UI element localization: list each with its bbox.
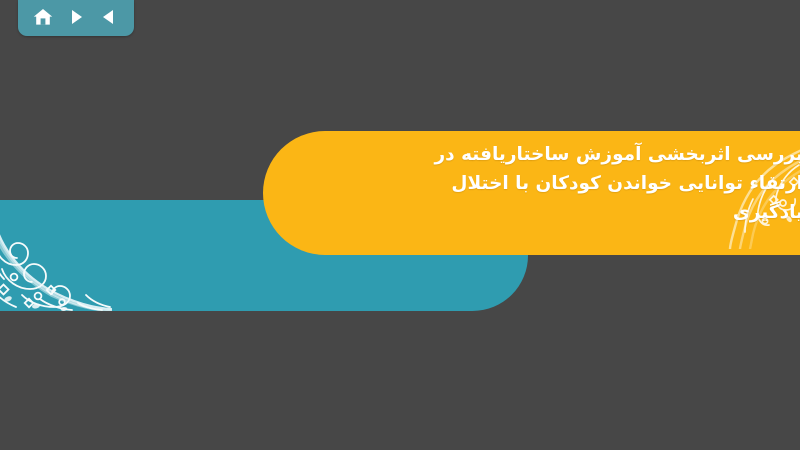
title-banner: بررسی اثربخشی آموزش ساختاریافته در ارتقا… [263, 131, 800, 255]
triangle-left-icon [99, 7, 119, 27]
slide-title: بررسی اثربخشی آموزش ساختاریافته در ارتقا… [343, 140, 800, 227]
title-line-1: بررسی اثربخشی آموزش ساختاریافته در [343, 140, 800, 169]
previous-slide-button[interactable] [96, 4, 122, 30]
triangle-right-icon [66, 7, 86, 27]
next-slide-button[interactable] [63, 4, 89, 30]
home-icon [32, 6, 54, 28]
title-line-2: ارتقاء توانایی خواندن کودکان با اختلال [343, 169, 800, 198]
title-line-3: یادگیری [343, 198, 800, 227]
home-button[interactable] [30, 4, 56, 30]
slide-canvas: بررسی اثربخشی آموزش ساختاریافته در ارتقا… [0, 0, 800, 450]
arabesque-ornament-teal [0, 203, 112, 311]
navigation-bar [18, 0, 134, 36]
